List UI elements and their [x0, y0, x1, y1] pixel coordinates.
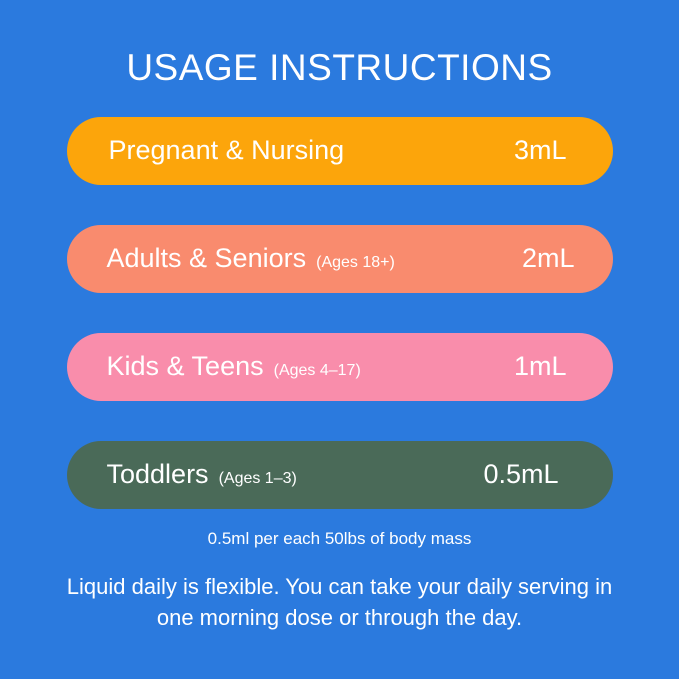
dosage-amount: 0.5mL [483, 461, 578, 488]
dosage-age-note: (Ages 18+) [316, 255, 395, 271]
dosage-row-label-group: Pregnant & Nursing [107, 137, 355, 164]
dosage-row-adults-seniors: Adults & Seniors (Ages 18+) 2mL [67, 225, 613, 293]
dosage-amount: 1mL [514, 353, 579, 380]
dosage-footnote: 0.5ml per each 50lbs of body mass [208, 529, 472, 549]
dosage-row-label-group: Adults & Seniors (Ages 18+) [107, 245, 395, 272]
dosage-row-label-group: Toddlers (Ages 1–3) [107, 461, 297, 488]
dosage-group-label: Adults & Seniors [107, 245, 307, 272]
dosage-row-label-group: Kids & Teens (Ages 4–17) [107, 353, 361, 380]
dosage-amount: 2mL [522, 245, 579, 272]
dosage-row-toddlers: Toddlers (Ages 1–3) 0.5mL [67, 441, 613, 509]
dosage-amount: 3mL [514, 137, 579, 164]
dosage-group-label: Pregnant & Nursing [109, 137, 345, 164]
dosage-group-label: Toddlers [107, 461, 209, 488]
dosage-age-note: (Ages 4–17) [274, 363, 361, 379]
dosage-age-note: (Ages 1–3) [219, 471, 297, 487]
usage-instructions-panel: USAGE INSTRUCTIONS Pregnant & Nursing 3m… [0, 0, 679, 679]
dosage-row-kids-teens: Kids & Teens (Ages 4–17) 1mL [67, 333, 613, 401]
page-title: USAGE INSTRUCTIONS [126, 48, 552, 89]
dosage-group-label: Kids & Teens [107, 353, 264, 380]
dosage-row-pregnant-nursing: Pregnant & Nursing 3mL [67, 117, 613, 185]
dosage-table: Pregnant & Nursing 3mL Adults & Seniors … [67, 117, 613, 509]
closing-note: Liquid daily is flexible. You can take y… [50, 571, 630, 633]
